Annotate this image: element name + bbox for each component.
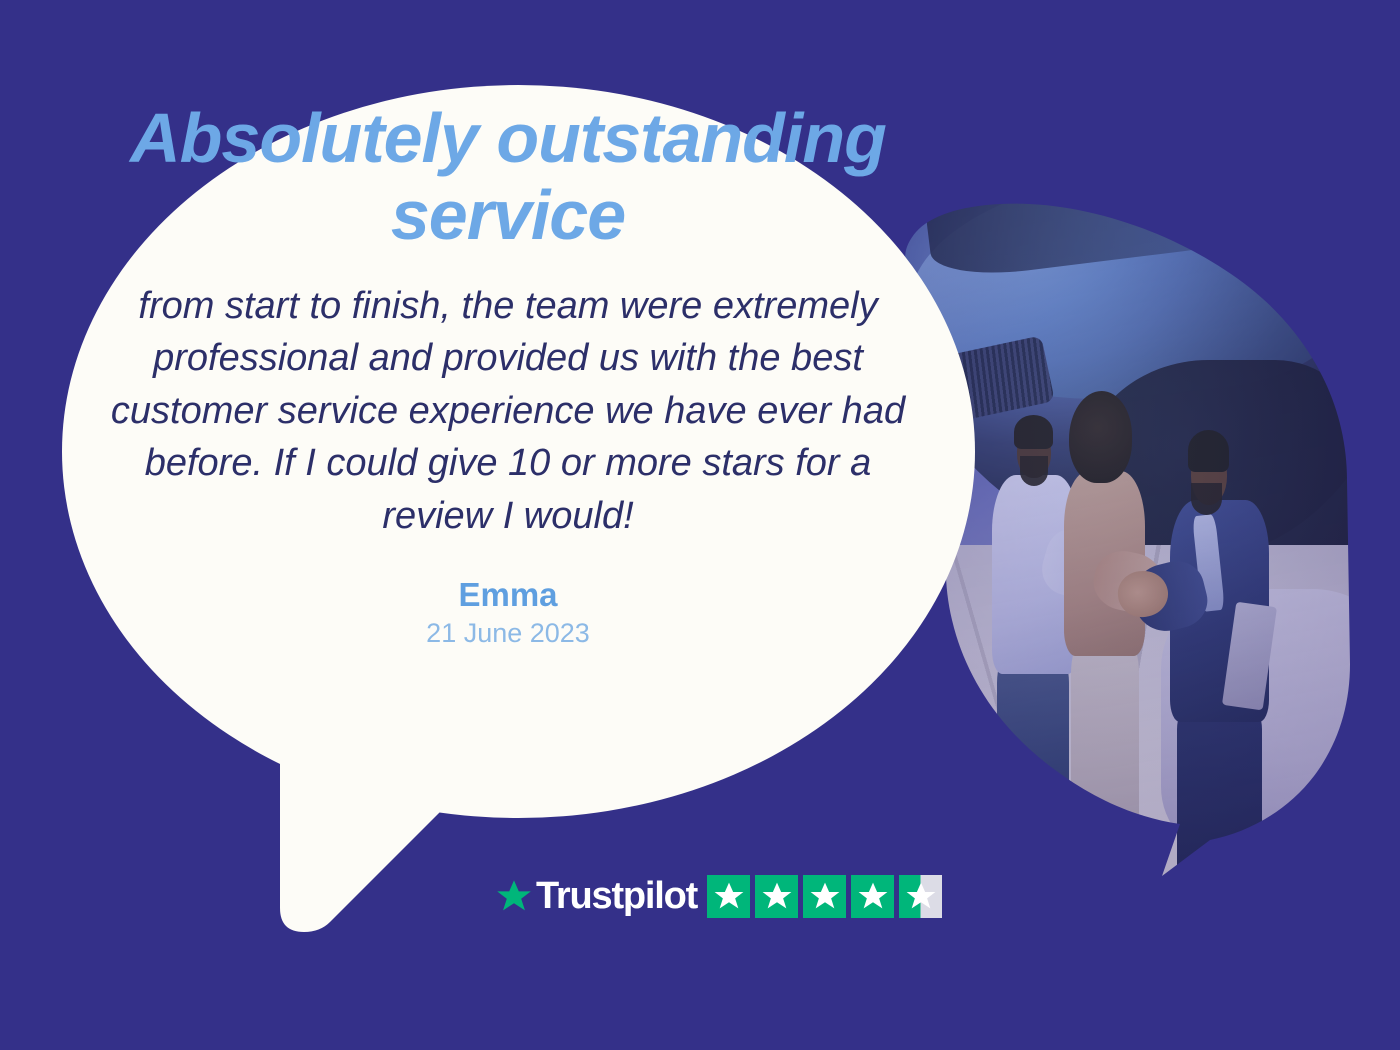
star-tile-2 (755, 875, 798, 918)
customer-woman-shoes (1078, 833, 1119, 858)
star-tile-1 (707, 875, 750, 918)
review-testimonial-graphic: Absolutely outstanding service from star… (0, 0, 1400, 1050)
trustpilot-rating[interactable]: Trustpilot (496, 872, 942, 920)
customer-man-shoes (1004, 837, 1049, 864)
review-date: 21 June 2023 (78, 618, 938, 649)
review-quote: from start to finish, the team were extr… (78, 280, 938, 542)
star-tile-5-half (899, 875, 942, 918)
trustpilot-star-icon (496, 878, 532, 914)
star-tile-3 (803, 875, 846, 918)
star-tile-4 (851, 875, 894, 918)
review-headline: Absolutely outstanding service (78, 100, 938, 254)
trustpilot-wordmark: Trustpilot (536, 875, 697, 918)
review-text-block: Absolutely outstanding service from star… (78, 100, 938, 649)
trustpilot-star-tiles (707, 875, 942, 918)
reviewer-name: Emma (78, 576, 938, 614)
